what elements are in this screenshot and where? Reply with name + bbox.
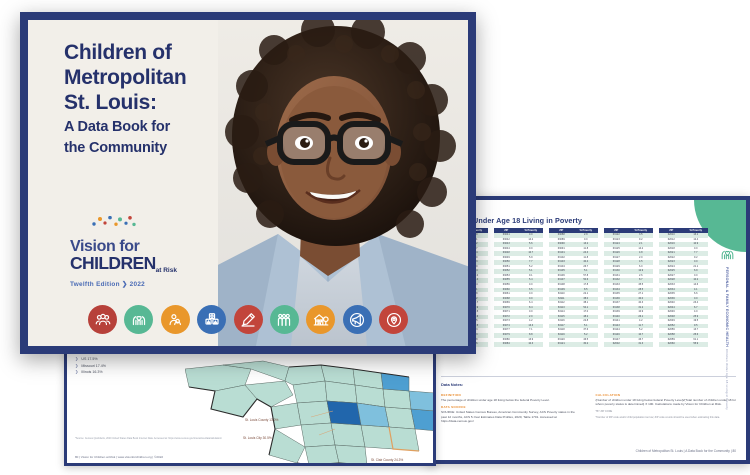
cover-photo-girl [218, 20, 468, 346]
definition-label: DEFINITION [441, 393, 582, 397]
map-legend-label: Missouri 17.4% [81, 364, 106, 368]
cover-icon-three-people[interactable] [270, 305, 299, 334]
poverty-table-block: ZIP% Poverty631223.5631239.2631242.16312… [604, 228, 653, 347]
table-cell: 62060 [659, 342, 684, 347]
logo-children-text: CHILDREN [70, 253, 156, 273]
poverty-table-block: ZIP% Poverty630410.06304214.2630435.6630… [494, 228, 543, 347]
cover-title-line-3: St. Louis: [64, 90, 244, 115]
data-notes-heading: Data Notes: [441, 382, 736, 387]
cover-icon-location-pin[interactable] [379, 305, 408, 334]
footnote-text: *Number of ZIP code and/or child populat… [596, 416, 737, 420]
table-cell: 63084 [494, 342, 519, 347]
table-cell: 31.3 [629, 342, 654, 347]
map-label-st-louis-city: St. Louis City 30.5% [243, 436, 272, 440]
cover-icon-pencil[interactable] [234, 305, 263, 334]
cover-icon-hands-heart[interactable] [124, 305, 153, 334]
cover-subtitle-line-1: A Data Book for [64, 119, 244, 136]
notes-divider [441, 376, 736, 377]
back-page-content: Children Under Age 18 Living in Poverty … [431, 200, 746, 460]
cover-title-block: Children of Metropolitan St. Louis: A Da… [64, 40, 244, 157]
location-pin-icon [385, 311, 403, 329]
map-page-content: ❯US 17.5%❯Missouri 17.4%❯Illinois 16.3% [67, 351, 433, 463]
front-cover[interactable]: Children of Metropolitan St. Louis: A Da… [20, 12, 476, 354]
map-legend-item: ❯Illinois 16.3% [75, 370, 106, 374]
data-notes-section: Data Notes: DEFINITION The percentage of… [441, 382, 736, 423]
data-source-label: DATA SOURCE [441, 405, 582, 409]
cover-icon-megaphone[interactable] [343, 305, 372, 334]
footnote-label: *BY ZIP CODE [596, 410, 737, 414]
st-louis-region-choropleth-map: St. Louis County 13.0% St. Louis City 30… [185, 351, 433, 463]
table-cell: 63121 [549, 342, 574, 347]
cover-icon-row [36, 305, 460, 334]
cover-icon-people-group[interactable] [88, 305, 117, 334]
cover-title-line-2: Metropolitan [64, 65, 244, 90]
back-page-footer: Children of Metropolitan St. Louis | A D… [636, 449, 736, 453]
vision-for-children-logo[interactable]: Vision for CHILDRENat Risk Twelfth Editi… [70, 216, 200, 288]
document-mockup-stage: Children Under Age 18 Living in Poverty … [0, 0, 750, 475]
definition-text: The percentage of children under age 18 … [441, 398, 582, 402]
table-row: 6312130.2 [549, 342, 598, 347]
table-row: 6200231.3 [604, 342, 653, 347]
poverty-zip-tables: ZIP% Poverty630050.0630105.1630113.26301… [439, 228, 708, 347]
map-legend: ❯US 17.5%❯Missouri 17.4%❯Illinois 16.3% [75, 357, 106, 377]
table-cell: 55.9 [684, 342, 709, 347]
table-row: 6206055.9 [659, 342, 708, 347]
cover-icon-mother-baby[interactable] [161, 305, 190, 334]
logo-edition-text: Twelfth Edition ❯ 2022 [70, 280, 200, 288]
map-page[interactable]: ❯US 17.5%❯Missouri 17.4%❯Illinois 16.3% [64, 348, 436, 466]
map-legend-label: Illinois 16.3% [81, 370, 102, 374]
calculation-text: (Number of children under 18 living belo… [596, 398, 737, 407]
poverty-table-block: ZIP% Poverty6201013.16201212.46201610.96… [659, 228, 708, 347]
map-legend-label: US 17.5% [81, 357, 97, 361]
front-cover-content: Children of Metropolitan St. Louis: A Da… [28, 20, 468, 346]
notes-right-column: CALCULATION (Number of children under 18… [596, 390, 737, 423]
map-label-st-clair-county: St. Clair County 24.3% [371, 458, 403, 462]
people-group-icon [94, 311, 112, 329]
map-legend-item: ❯Missouri 17.4% [75, 364, 106, 368]
table-cell: 62002 [604, 342, 629, 347]
hands-heart-icon [719, 246, 736, 263]
three-people-icon [275, 311, 293, 329]
chevron-right-icon: ❯ [75, 370, 78, 374]
building-blocks-icon [203, 311, 221, 329]
table-row: 6308410.3 [494, 342, 543, 347]
side-tab-label: PERSONAL & FAMILY ECONOMIC HEALTH [725, 267, 729, 347]
chevron-right-icon: ❯ [75, 364, 78, 368]
poverty-table-block: ZIP% Poverty630882.9630890.06309013.2630… [549, 228, 598, 347]
cover-icon-house-tree[interactable] [306, 305, 335, 334]
map-legend-item: ❯US 17.5% [75, 357, 106, 361]
cover-title-line-1: Children of [64, 40, 244, 65]
megaphone-icon [348, 311, 366, 329]
map-source-note: *Source: Census Quickfacts, 2020 United … [75, 437, 225, 440]
mother-baby-icon [166, 311, 184, 329]
pencil-icon [239, 311, 257, 329]
house-tree-icon [312, 311, 330, 329]
cover-subtitle-line-2: the Community [64, 140, 244, 157]
chevron-right-icon: ❯ [75, 357, 78, 361]
table-cell: 30.2 [574, 342, 599, 347]
calculation-label: CALCULATION [596, 393, 737, 397]
hands-heart-icon [130, 311, 148, 329]
logo-at-risk-text: at Risk [156, 268, 177, 274]
cover-icon-building-blocks[interactable] [197, 305, 226, 334]
map-label-st-louis-county: St. Louis County 13.0% [245, 418, 278, 422]
logo-confetti-figure-icon [70, 216, 202, 234]
table-cell: 10.3 [519, 342, 544, 347]
notes-left-column: DEFINITION The percentage of children un… [441, 390, 582, 423]
data-source-text: SOURCE: United States Census Bureau, Ame… [441, 410, 582, 423]
map-page-footer: 80 | Vision for Children at Risk | www.v… [75, 455, 163, 459]
